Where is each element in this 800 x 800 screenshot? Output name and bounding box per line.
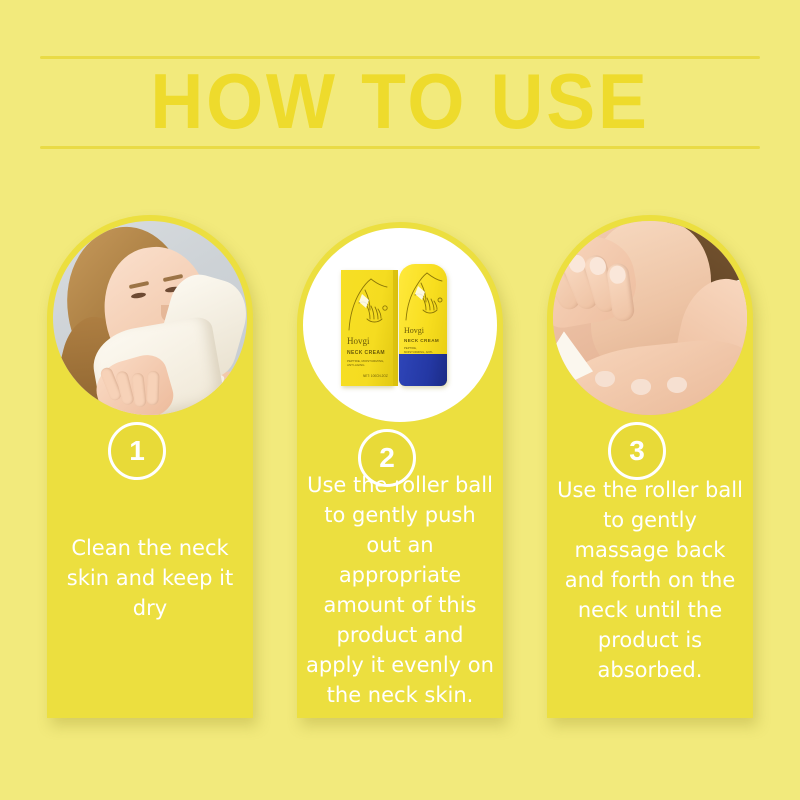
step-2-text: Use the roller ball to gently push out a… [305, 470, 495, 710]
step-2-media: Hovgi NECK CREAM PEPTIDE, MOISTURIZING, … [303, 228, 497, 422]
step-card-1: 1 Clean the neck skin and keep it dry [47, 215, 253, 718]
carton-side-panel [393, 270, 398, 386]
fingernail-shape [631, 379, 651, 395]
page-title: HOW TO USE [62, 56, 739, 146]
carton-description: PEPTIDE, MOISTURIZING, ANTI-AGING [347, 359, 387, 368]
steps-container: 1 Clean the neck skin and keep it dry [47, 200, 753, 730]
hand-lower-shape [559, 335, 747, 415]
product-carton: Hovgi NECK CREAM PEPTIDE, MOISTURIZING, … [341, 270, 393, 386]
fingernail-shape [667, 377, 687, 393]
step-number-badge-3: 3 [608, 422, 666, 480]
fingernail-shape [595, 371, 615, 387]
step-3-media [553, 221, 747, 415]
tube-product-name: NECK CREAM [404, 338, 439, 343]
carton-net-weight: NET: 100CN.2OZ [363, 374, 388, 378]
header: HOW TO USE [40, 52, 760, 152]
product-box-and-tube: Hovgi NECK CREAM PEPTIDE, MOISTURIZING, … [303, 228, 497, 422]
neck-lineart-icon [399, 264, 447, 326]
tube-brand: Hovgi [404, 326, 424, 335]
product-tube: Hovgi NECK CREAM PEPTIDE, MOISTURIZING, … [399, 264, 447, 386]
carton-product-name: NECK CREAM [347, 350, 385, 356]
photo-woman-drying-face-with-towel [53, 221, 247, 415]
neck-lineart-icon [341, 270, 393, 336]
step-1-text: Clean the neck skin and keep it dry [55, 533, 245, 623]
step-number-badge-1: 1 [108, 422, 166, 480]
finger-shape [146, 371, 159, 405]
header-rule-bottom [40, 146, 760, 149]
step-3-text: Use the roller ball to gently massage ba… [555, 475, 745, 685]
tube-cap [399, 354, 447, 386]
how-to-use-poster: HOW TO USE [0, 0, 800, 800]
step-1-media [53, 221, 247, 415]
step-card-3: 3 Use the roller ball to gently massage … [547, 215, 753, 718]
step-card-2: Hovgi NECK CREAM PEPTIDE, MOISTURIZING, … [297, 222, 503, 718]
carton-brand: Hovgi [347, 336, 370, 346]
photo-hands-massaging-neck [553, 221, 747, 415]
